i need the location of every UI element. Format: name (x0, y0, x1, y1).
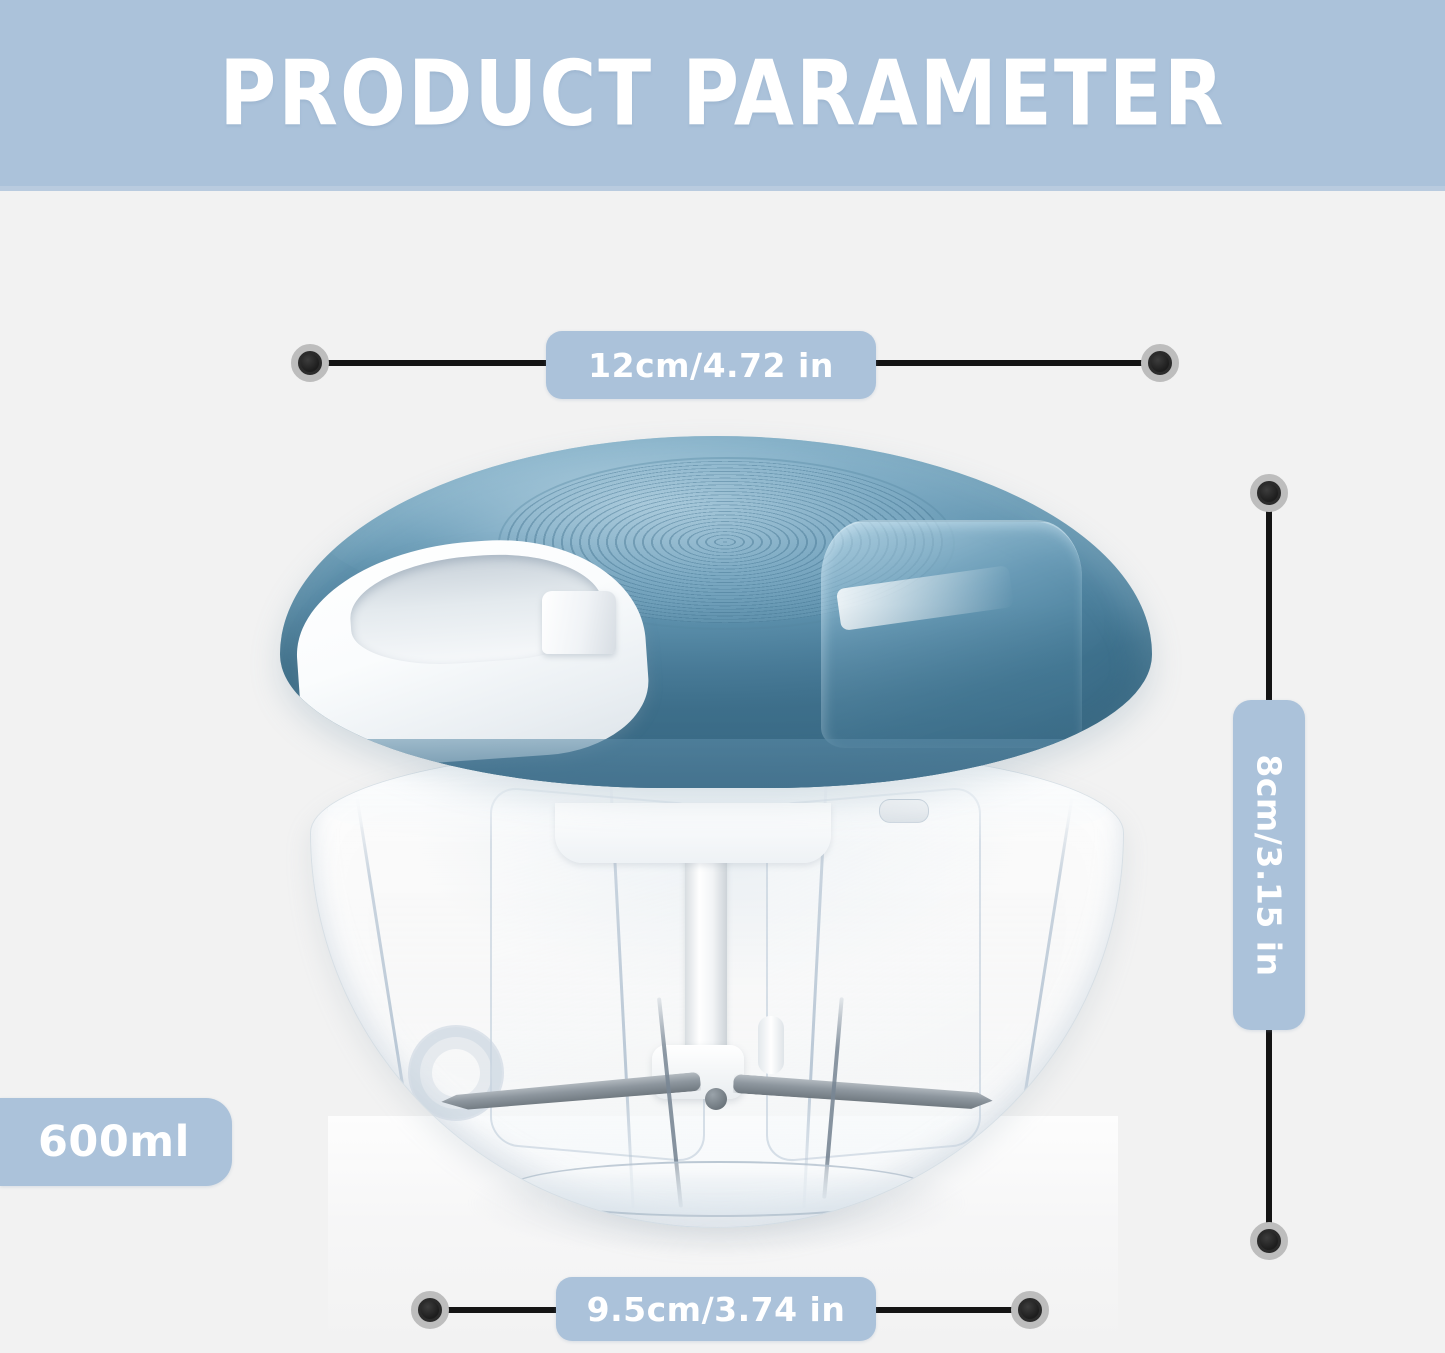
dimension-endpoint-base-right (1011, 1291, 1049, 1329)
page-title: PRODUCT PARAMETER (0, 37, 1445, 150)
dimension-endpoint-base-left (411, 1291, 449, 1329)
bowl-latch-tab (879, 799, 929, 823)
product-parameter-page: PRODUCT PARAMETER (0, 0, 1445, 1353)
pull-handle-knob (542, 591, 616, 654)
dimension-label-width: 12cm/4.72 in (546, 331, 876, 399)
capacity-badge: 600ml (0, 1098, 232, 1186)
blade-bolt (705, 1088, 727, 1110)
dimension-endpoint-width-left (291, 344, 329, 382)
blade-post (758, 1016, 784, 1074)
inner-lid-lip (555, 803, 831, 863)
dimension-label-height: 8cm/3.15 in (1233, 700, 1305, 1030)
dimension-label-base-width: 9.5cm/3.74 in (556, 1277, 876, 1341)
dimension-label-width-text: 12cm/4.72 in (588, 346, 834, 385)
capacity-badge-text: 600ml (38, 1117, 190, 1167)
dimension-label-height-text: 8cm/3.15 in (1250, 754, 1289, 976)
blue-lid (280, 436, 1152, 788)
dimension-endpoint-height-top (1250, 474, 1288, 512)
dimension-label-base-width-text: 9.5cm/3.74 in (587, 1290, 846, 1329)
dimension-endpoint-width-right (1141, 344, 1179, 382)
dimension-endpoint-height-bottom (1250, 1222, 1288, 1260)
product-image (268, 416, 1168, 1231)
